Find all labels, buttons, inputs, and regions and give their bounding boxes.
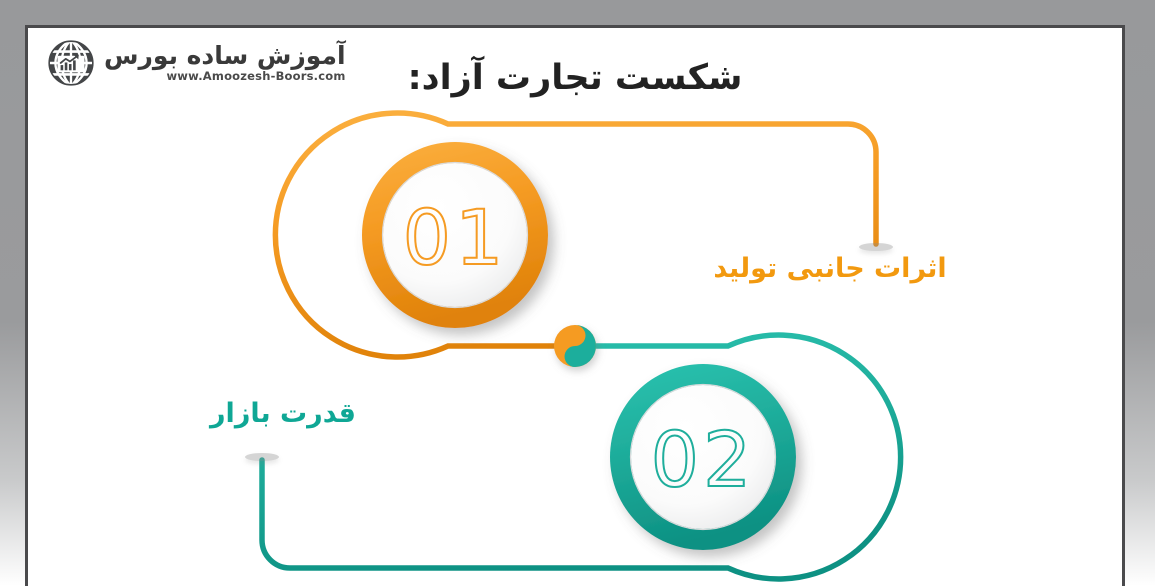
step-number-02: 02	[651, 415, 756, 504]
yin-yang-junction-dot	[554, 325, 596, 367]
step-number-01: 01	[403, 193, 508, 282]
teal-connector-track	[245, 335, 901, 579]
process-diagram: 01 02	[28, 28, 1122, 586]
step-label-02: قدرت بازار	[153, 398, 413, 429]
infographic-slide: آموزش ساده بورس www.Amoozesh-Boors.com ش…	[0, 0, 1155, 586]
slide-canvas: آموزش ساده بورس www.Amoozesh-Boors.com ش…	[28, 28, 1122, 586]
step-label-01: اثرات جانبی تولید	[700, 253, 960, 284]
